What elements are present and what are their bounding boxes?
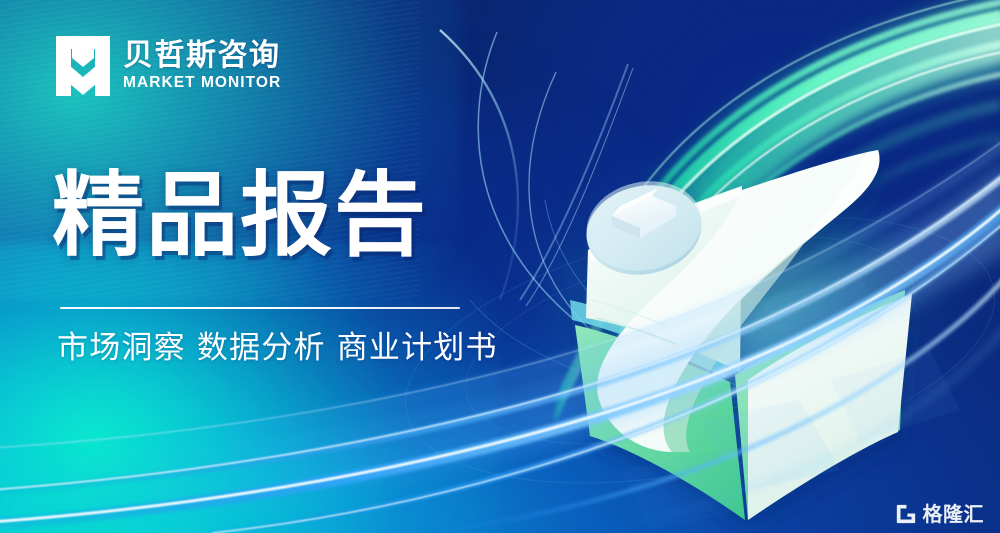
brand-name-cn: 贝哲斯咨询 <box>123 41 281 72</box>
watermark: 格隆汇 <box>895 503 985 525</box>
brand-name-en: MARKET MONITOR <box>123 75 281 91</box>
title-divider <box>60 307 460 309</box>
brand-logo: 贝哲斯咨询 MARKET MONITOR <box>56 36 281 96</box>
m-monogram-icon <box>56 36 110 96</box>
report-cover-banner: 贝哲斯咨询 MARKET MONITOR 精品报告 市场洞察 数据分析 商业计划… <box>0 0 1000 533</box>
watermark-text: 格隆汇 <box>923 504 985 524</box>
page-title: 精品报告 <box>52 166 428 265</box>
page-subtitle: 市场洞察 数据分析 商业计划书 <box>57 328 498 368</box>
gelonghui-g-icon <box>895 503 917 525</box>
